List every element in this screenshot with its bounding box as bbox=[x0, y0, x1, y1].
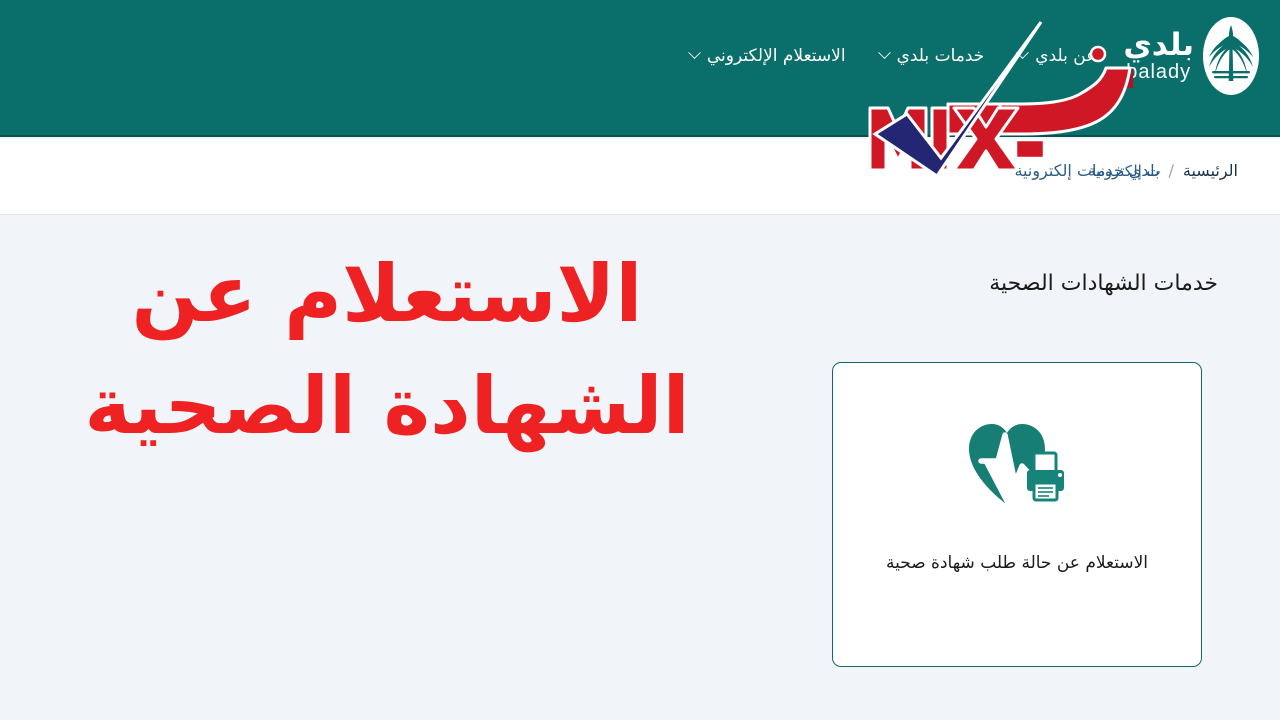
chevron-down-icon bbox=[688, 46, 701, 59]
palm-tree-swords-emblem-icon bbox=[1200, 15, 1262, 97]
main-navigation: عن بلدي خدمات بلدي الاستعلام الإلكتروني bbox=[673, 40, 1113, 72]
nav-item-about-balady-label: عن بلدي bbox=[1035, 46, 1096, 66]
breadcrumb-current: بلدي خدمات إلكترونية bbox=[1014, 161, 1159, 180]
nav-item-electronic-inquiry-label: الاستعلام الإلكتروني bbox=[707, 46, 846, 66]
service-card-label: الاستعلام عن حالة طلب شهادة صحية bbox=[886, 553, 1148, 573]
main-content: خدمات الشهادات الصحية الاستعلام عن حالة … bbox=[0, 216, 1280, 720]
nav-item-electronic-inquiry[interactable]: الاستعلام الإلكتروني bbox=[673, 40, 863, 72]
nav-item-about-balady[interactable]: عن بلدي bbox=[1001, 40, 1113, 72]
heart-heartbeat-printer-icon bbox=[961, 415, 1073, 511]
nav-item-balady-services-label: خدمات بلدي bbox=[897, 46, 985, 66]
header-inner: بلدي balady عن بلدي خدمات بلدي الاستعلام… bbox=[673, 0, 1280, 137]
brand-logo[interactable]: بلدي balady bbox=[1113, 15, 1280, 97]
service-card-health-certificate-status[interactable]: الاستعلام عن حالة طلب شهادة صحية bbox=[832, 362, 1202, 667]
chevron-down-icon bbox=[1016, 46, 1029, 59]
brand-name-arabic: بلدي bbox=[1123, 29, 1194, 62]
nav-item-balady-services[interactable]: خدمات بلدي bbox=[863, 40, 1002, 72]
chevron-down-icon bbox=[878, 46, 891, 59]
breadcrumb-strip: الرئيسية / بلدي خدمات إلكترونية bbox=[0, 139, 1280, 215]
breadcrumb-home-link[interactable]: الرئيسية bbox=[1183, 161, 1238, 180]
page-title: خدمات الشهادات الصحية bbox=[989, 271, 1218, 296]
brand-name-latin: balady bbox=[1126, 62, 1191, 82]
breadcrumb-separator: / bbox=[1169, 161, 1174, 180]
brand-wordmark: بلدي balady bbox=[1123, 29, 1194, 83]
breadcrumb: الرئيسية / بلدي خدمات إلكترونية bbox=[1014, 161, 1238, 180]
site-header: بلدي balady عن بلدي خدمات بلدي الاستعلام… bbox=[0, 0, 1280, 137]
brand-red-square bbox=[1107, 69, 1133, 88]
